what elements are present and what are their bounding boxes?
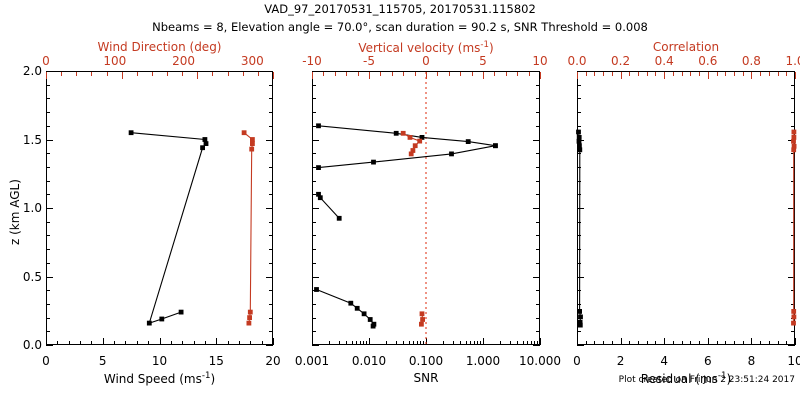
x-axis-tick <box>531 341 532 345</box>
x-axis-tick <box>443 341 444 345</box>
y-axis-tick <box>577 153 581 154</box>
y-axis-tick <box>46 167 50 168</box>
y-axis-tick <box>266 277 273 278</box>
y-axis-tick <box>791 249 795 250</box>
x-axis-top-tick <box>346 72 347 76</box>
x-axis-top-tick <box>415 72 416 76</box>
y-axis-tick <box>577 318 581 319</box>
x-axis-tick <box>594 341 595 345</box>
y-axis-tick <box>269 153 273 154</box>
y-axis-tick <box>791 263 795 264</box>
y-axis-tick <box>46 290 50 291</box>
y-axis-tick <box>46 222 50 223</box>
y-axis-tick <box>46 194 50 195</box>
x-axis-top-tick <box>212 72 213 76</box>
x-axis-top-tick <box>46 72 47 79</box>
y-axis-tick-label: 0.5 <box>23 271 42 283</box>
x-axis-top-tick <box>76 72 77 76</box>
x-axis-top-tick <box>664 72 665 79</box>
x-axis-tick <box>250 341 251 345</box>
x-axis-top-tick <box>751 72 752 79</box>
x-axis-top-tick-label: 0.4 <box>655 55 674 67</box>
x-axis-top-tick <box>182 72 183 76</box>
x-axis-tick <box>629 341 630 345</box>
x-axis-tick <box>621 338 622 345</box>
x-axis-top-tick <box>699 72 700 76</box>
x-axis-top-tick <box>312 72 313 79</box>
x-axis-top-tick <box>122 72 123 79</box>
y-axis-tick <box>46 153 50 154</box>
y-axis-tick <box>312 331 316 332</box>
x-axis-tick <box>474 341 475 345</box>
y-axis-tick <box>266 208 273 209</box>
y-axis-tick <box>266 345 273 346</box>
x-axis-top-tick <box>335 72 336 76</box>
y-axis-tick <box>536 222 540 223</box>
x-axis-tick <box>673 341 674 345</box>
x-axis-tick <box>182 341 183 345</box>
x-axis-tick <box>363 341 364 345</box>
x-axis-tick-label: 5 <box>99 355 107 367</box>
y-axis-tick <box>536 331 540 332</box>
x-axis-tick <box>103 338 104 345</box>
x-axis-top-tick-label: 0.6 <box>698 55 717 67</box>
x-axis-tick <box>194 341 195 345</box>
x-axis-tick-label: 15 <box>209 355 224 367</box>
x-axis-top-tick <box>273 72 274 79</box>
x-axis-tick <box>386 341 387 345</box>
y-axis-tick <box>536 85 540 86</box>
x-axis-tick <box>125 341 126 345</box>
y-axis-tick <box>269 304 273 305</box>
y-axis-tick <box>269 112 273 113</box>
y-axis-tick <box>312 222 316 223</box>
x-axis-tick <box>228 341 229 345</box>
plot-panel-2 <box>312 71 540 345</box>
x-axis-top-tick <box>655 72 656 76</box>
y-axis-tick <box>791 153 795 154</box>
y-axis-tick <box>577 140 584 141</box>
x-axis-tick <box>369 338 370 345</box>
x-axis-top-tick <box>258 72 259 76</box>
x-axis-top-tick <box>577 72 578 79</box>
x-axis-top-tick <box>786 72 787 76</box>
y-axis-tick <box>577 277 584 278</box>
x-axis-top-tick <box>621 72 622 79</box>
y-axis-tick <box>312 249 316 250</box>
x-axis-tick <box>423 341 424 345</box>
x-axis-top-tick <box>392 72 393 76</box>
y-axis-tick <box>791 85 795 86</box>
x-axis-tick <box>527 341 528 345</box>
x-axis-tick <box>540 338 541 345</box>
x-axis-tick <box>760 341 761 345</box>
y-axis-label: z (km AGL) <box>8 179 22 245</box>
y-axis-tick <box>312 112 316 113</box>
x-axis-tick <box>612 341 613 345</box>
x-axis-top-tick <box>380 72 381 76</box>
y-axis-tick <box>46 263 50 264</box>
x-axis-tick <box>356 341 357 345</box>
y-axis-tick <box>536 112 540 113</box>
x-axis-top-tick-label: 0 <box>422 55 430 67</box>
y-axis-tick <box>269 318 273 319</box>
y-axis-tick <box>791 222 795 223</box>
y-axis-tick <box>269 331 273 332</box>
y-axis-tick <box>791 290 795 291</box>
y-axis-tick <box>46 331 50 332</box>
y-axis-tick <box>788 277 795 278</box>
y-axis-tick <box>577 304 581 305</box>
y-axis-tick <box>536 98 540 99</box>
x-axis-tick <box>239 341 240 345</box>
y-axis-tick <box>788 208 795 209</box>
x-axis-top-tick <box>369 72 370 79</box>
x-axis-top-tick <box>517 72 518 76</box>
y-axis-tick <box>533 71 540 72</box>
x-axis-top-tick <box>717 72 718 76</box>
y-axis-tick <box>46 277 53 278</box>
x-axis-tick <box>682 341 683 345</box>
x-axis-tick <box>366 341 367 345</box>
y-axis-tick <box>577 222 581 223</box>
y-axis-tick <box>577 71 584 72</box>
x-axis-top-tick <box>494 72 495 76</box>
x-axis-top-label-1: Wind Direction (deg) <box>98 41 222 53</box>
x-axis-top-tick <box>682 72 683 76</box>
y-axis-tick <box>312 304 316 305</box>
x-axis-tick-label: 6 <box>704 355 712 367</box>
x-axis-tick <box>743 341 744 345</box>
x-axis-tick <box>360 341 361 345</box>
x-axis-tick <box>510 341 511 345</box>
x-axis-tick <box>603 341 604 345</box>
x-axis-tick <box>346 341 347 345</box>
y-axis-tick-label: 1.5 <box>23 134 42 146</box>
y-axis-tick <box>269 263 273 264</box>
x-axis-tick <box>690 341 691 345</box>
y-axis-tick <box>266 71 273 72</box>
x-axis-top-tick <box>769 72 770 76</box>
y-axis-tick <box>312 194 316 195</box>
y-axis-tick <box>577 208 584 209</box>
y-axis-tick <box>46 208 53 209</box>
y-axis-tick <box>788 71 795 72</box>
x-axis-tick <box>523 341 524 345</box>
y-axis-tick <box>312 208 319 209</box>
y-axis-tick-label: 1.0 <box>23 202 42 214</box>
y-axis-tick <box>266 140 273 141</box>
x-axis-tick <box>80 341 81 345</box>
y-axis-tick <box>577 181 581 182</box>
x-axis-top-tick <box>167 72 168 76</box>
x-axis-tick-label: 0 <box>573 355 581 367</box>
x-axis-label-2: SNR <box>414 372 439 384</box>
y-axis-tick <box>269 98 273 99</box>
y-axis-tick <box>536 318 540 319</box>
x-axis-tick-label: 1.000 <box>466 355 500 367</box>
y-axis-tick <box>536 167 540 168</box>
y-axis-tick-label: 0.0 <box>23 339 42 351</box>
x-axis-top-label-2: Vertical velocity (ms-1) <box>358 41 493 54</box>
y-axis-tick <box>46 235 50 236</box>
x-axis-tick <box>273 338 274 345</box>
x-axis-top-tick <box>61 72 62 76</box>
x-axis-tick <box>91 341 92 345</box>
x-axis-tick <box>413 341 414 345</box>
y-axis-tick <box>791 194 795 195</box>
y-axis-tick <box>312 140 319 141</box>
x-axis-top-tick-label: 0.2 <box>611 55 630 67</box>
x-axis-top-tick <box>91 72 92 76</box>
x-axis-top-tick <box>197 72 198 79</box>
x-axis-tick <box>778 341 779 345</box>
x-axis-top-tick-label: 0.0 <box>567 55 586 67</box>
x-axis-tick <box>420 341 421 345</box>
footer-timestamp: Plot created on Fri Jun 2 23:51:24 2017 <box>619 376 795 385</box>
y-axis-tick <box>533 140 540 141</box>
x-axis-top-tick <box>137 72 138 76</box>
x-axis-tick <box>769 341 770 345</box>
x-axis-tick <box>114 341 115 345</box>
x-axis-top-tick <box>708 72 709 79</box>
x-axis-tick <box>751 338 752 345</box>
x-axis-tick <box>470 341 471 345</box>
x-axis-tick-label: 0.010 <box>352 355 386 367</box>
y-axis-tick <box>536 126 540 127</box>
y-axis-tick <box>312 126 316 127</box>
x-axis-tick <box>786 341 787 345</box>
y-axis-tick <box>533 277 540 278</box>
x-axis-top-tick <box>506 72 507 76</box>
y-axis-tick <box>791 318 795 319</box>
x-axis-top-tick <box>228 72 229 76</box>
x-axis-top-tick <box>460 72 461 76</box>
x-axis-top-tick <box>629 72 630 76</box>
y-axis-tick <box>269 290 273 291</box>
y-axis-tick <box>536 249 540 250</box>
x-axis-tick <box>708 338 709 345</box>
x-axis-tick <box>57 341 58 345</box>
x-axis-tick <box>480 341 481 345</box>
y-axis-tick <box>46 112 50 113</box>
y-axis-tick <box>46 181 50 182</box>
y-axis-tick <box>577 235 581 236</box>
x-axis-tick <box>137 341 138 345</box>
y-axis-tick <box>536 181 540 182</box>
x-axis-tick <box>339 341 340 345</box>
x-axis-top-label-3: Correlation <box>653 41 719 53</box>
x-axis-tick <box>396 341 397 345</box>
y-axis-tick <box>312 85 316 86</box>
x-axis-tick <box>577 338 578 345</box>
x-axis-tick-label: 8 <box>748 355 756 367</box>
x-axis-top-tick-label: -5 <box>363 55 375 67</box>
x-axis-tick <box>664 338 665 345</box>
x-axis-top-tick-label: -10 <box>302 55 322 67</box>
y-axis-tick <box>269 85 273 86</box>
y-axis-tick <box>312 290 316 291</box>
x-axis-tick <box>329 341 330 345</box>
y-axis-tick <box>788 140 795 141</box>
x-axis-tick <box>638 341 639 345</box>
x-axis-top-tick <box>725 72 726 76</box>
y-axis-tick <box>312 235 316 236</box>
y-axis-tick <box>46 345 53 346</box>
x-axis-top-tick <box>437 72 438 76</box>
y-axis-tick <box>536 194 540 195</box>
x-axis-top-tick <box>403 72 404 76</box>
x-axis-tick <box>417 341 418 345</box>
y-axis-tick <box>269 194 273 195</box>
x-axis-top-tick <box>647 72 648 76</box>
x-axis-top-tick <box>358 72 359 76</box>
y-axis-tick <box>312 318 316 319</box>
y-axis-tick <box>46 304 50 305</box>
y-axis-tick <box>577 98 581 99</box>
x-axis-tick-label: 10.000 <box>519 355 561 367</box>
x-axis-top-tick <box>795 72 796 79</box>
x-axis-top-tick <box>673 72 674 76</box>
x-axis-top-tick <box>603 72 604 76</box>
y-axis-tick <box>536 290 540 291</box>
y-axis-tick <box>46 249 50 250</box>
x-axis-tick <box>483 338 484 345</box>
y-axis-tick <box>46 126 50 127</box>
x-axis-top-tick <box>426 72 427 79</box>
y-axis-tick <box>577 167 581 168</box>
y-axis-tick-label: 2.0 <box>23 65 42 77</box>
y-axis-tick <box>577 194 581 195</box>
y-axis-tick <box>269 235 273 236</box>
x-axis-top-tick <box>586 72 587 76</box>
y-axis-tick <box>577 290 581 291</box>
x-axis-tick-label: 10 <box>152 355 167 367</box>
y-axis-tick <box>791 331 795 332</box>
y-axis-tick <box>533 345 540 346</box>
y-axis-tick <box>536 153 540 154</box>
x-axis-top-tick <box>743 72 744 76</box>
y-axis-tick <box>46 85 50 86</box>
x-axis-tick <box>69 341 70 345</box>
x-axis-top-tick-label: 200 <box>172 55 195 67</box>
y-axis-tick <box>46 318 50 319</box>
x-axis-tick <box>148 341 149 345</box>
plot-title: VAD_97_20170531_115705, 20170531.115802 <box>264 4 536 16</box>
x-axis-top-tick <box>472 72 473 76</box>
x-axis-tick <box>262 341 263 345</box>
x-axis-top-tick <box>638 72 639 76</box>
x-axis-tick <box>216 338 217 345</box>
y-axis-tick <box>788 345 795 346</box>
y-axis-tick <box>312 98 316 99</box>
x-axis-top-tick-label: 0.8 <box>742 55 761 67</box>
x-axis-tick <box>500 341 501 345</box>
x-axis-top-tick <box>243 72 244 76</box>
y-axis-tick <box>533 208 540 209</box>
y-axis-tick <box>46 71 53 72</box>
x-axis-tick-label: 2 <box>617 355 625 367</box>
x-axis-top-tick <box>734 72 735 76</box>
x-axis-label-1: Wind Speed (ms-1) <box>104 372 215 385</box>
x-axis-top-tick <box>529 72 530 76</box>
x-axis-top-tick <box>690 72 691 76</box>
x-axis-tick <box>655 341 656 345</box>
x-axis-top-tick <box>107 72 108 76</box>
y-axis-tick <box>269 249 273 250</box>
x-axis-tick <box>46 338 47 345</box>
x-axis-top-tick-label: 10 <box>532 55 547 67</box>
x-axis-tick <box>795 338 796 345</box>
x-axis-top-tick <box>778 72 779 76</box>
x-axis-tick-label: 20 <box>265 355 280 367</box>
vad-scan-plot: VAD_97_20170531_115705, 20170531.115802 … <box>0 0 800 400</box>
x-axis-tick <box>466 341 467 345</box>
x-axis-tick <box>453 341 454 345</box>
y-axis-tick <box>312 181 316 182</box>
y-axis-tick <box>791 167 795 168</box>
y-axis-tick <box>269 167 273 168</box>
x-axis-tick <box>647 341 648 345</box>
x-axis-top-tick <box>540 72 541 79</box>
y-axis-tick <box>791 98 795 99</box>
y-axis-tick <box>577 263 581 264</box>
x-axis-tick <box>426 338 427 345</box>
x-axis-tick <box>586 341 587 345</box>
y-axis-tick <box>536 235 540 236</box>
x-axis-tick <box>205 341 206 345</box>
y-axis-tick <box>577 331 581 332</box>
y-axis-tick <box>791 304 795 305</box>
x-axis-tick <box>699 341 700 345</box>
x-axis-top-tick-label: 0 <box>42 55 50 67</box>
y-axis-tick <box>46 98 50 99</box>
x-axis-tick-label: 10 <box>787 355 800 367</box>
y-axis-tick <box>577 249 581 250</box>
y-axis-tick <box>312 263 316 264</box>
x-axis-top-tick <box>152 72 153 76</box>
y-axis-tick <box>269 222 273 223</box>
y-axis-tick <box>791 112 795 113</box>
y-axis-tick <box>312 277 319 278</box>
x-axis-tick <box>171 341 172 345</box>
y-axis-tick <box>577 345 584 346</box>
x-axis-top-tick <box>594 72 595 76</box>
y-axis-tick <box>577 85 581 86</box>
x-axis-top-tick <box>449 72 450 76</box>
x-axis-tick <box>517 341 518 345</box>
x-axis-top-tick <box>760 72 761 76</box>
x-axis-top-tick <box>612 72 613 76</box>
y-axis-tick <box>536 263 540 264</box>
x-axis-top-tick <box>483 72 484 79</box>
x-axis-tick <box>409 341 410 345</box>
y-axis-tick <box>791 235 795 236</box>
x-axis-top-tick-label: 5 <box>479 55 487 67</box>
y-axis-tick <box>791 181 795 182</box>
x-axis-tick <box>734 341 735 345</box>
y-axis-tick <box>312 71 319 72</box>
y-axis-tick <box>577 126 581 127</box>
x-axis-tick <box>725 341 726 345</box>
x-axis-tick <box>403 341 404 345</box>
y-axis-tick <box>312 153 316 154</box>
y-axis-tick <box>46 140 53 141</box>
x-axis-tick-label: 0.001 <box>295 355 329 367</box>
x-axis-top-tick <box>323 72 324 76</box>
x-axis-top-tick-label: 300 <box>241 55 264 67</box>
x-axis-tick <box>460 341 461 345</box>
